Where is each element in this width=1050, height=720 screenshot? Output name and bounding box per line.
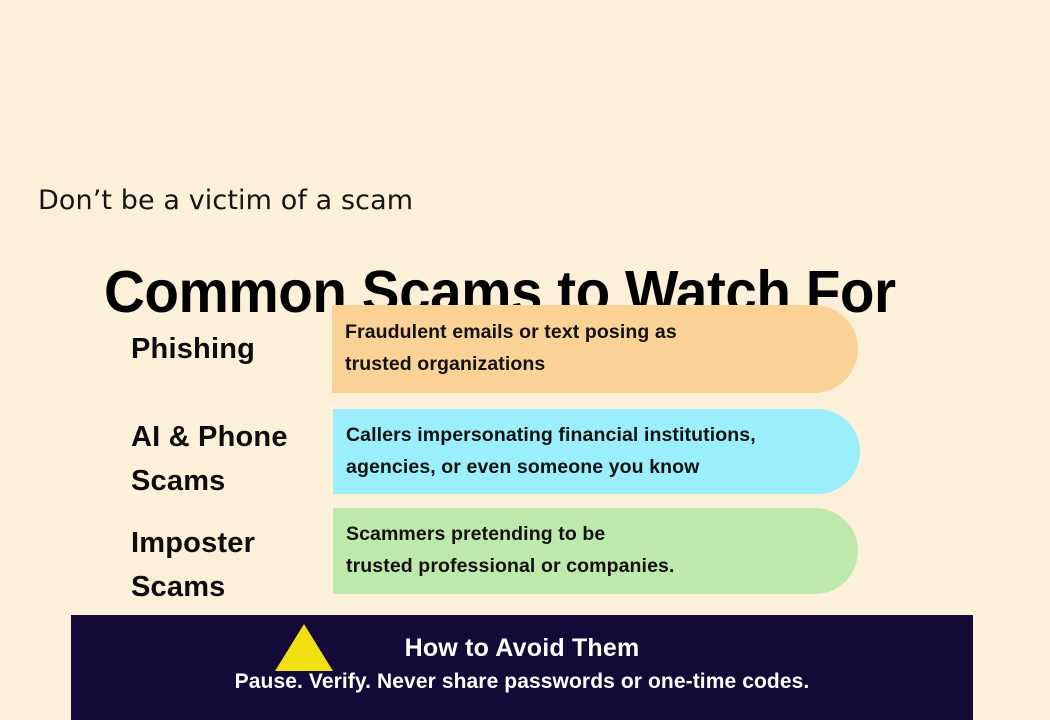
avoid-them-banner: How to Avoid Them Pause. Verify. Never s… <box>71 615 973 720</box>
slide-canvas: Don’t be a victim of a scam Common Scams… <box>0 0 1050 720</box>
scam-description-ai-phone: Callers impersonating financial institut… <box>346 420 756 483</box>
scam-pill-phishing: Fraudulent emails or text posing as trus… <box>332 305 858 393</box>
scam-label-phishing: Phishing <box>131 328 329 372</box>
scam-list: Phishing Fraudulent emails or text posin… <box>0 0 1050 720</box>
scam-pill-imposter: Scammers pretending to be trusted profes… <box>333 508 858 594</box>
scam-label-imposter: Imposter Scams <box>131 522 329 609</box>
footer-heading: How to Avoid Them <box>71 634 973 663</box>
scam-pill-ai-phone: Callers impersonating financial institut… <box>333 409 860 494</box>
scam-description-imposter: Scammers pretending to be trusted profes… <box>346 519 674 582</box>
footer-subtext: Pause. Verify. Never share passwords or … <box>71 670 973 694</box>
scam-label-ai-phone: AI & Phone Scams <box>131 416 329 503</box>
scam-description-phishing: Fraudulent emails or text posing as trus… <box>345 317 677 380</box>
